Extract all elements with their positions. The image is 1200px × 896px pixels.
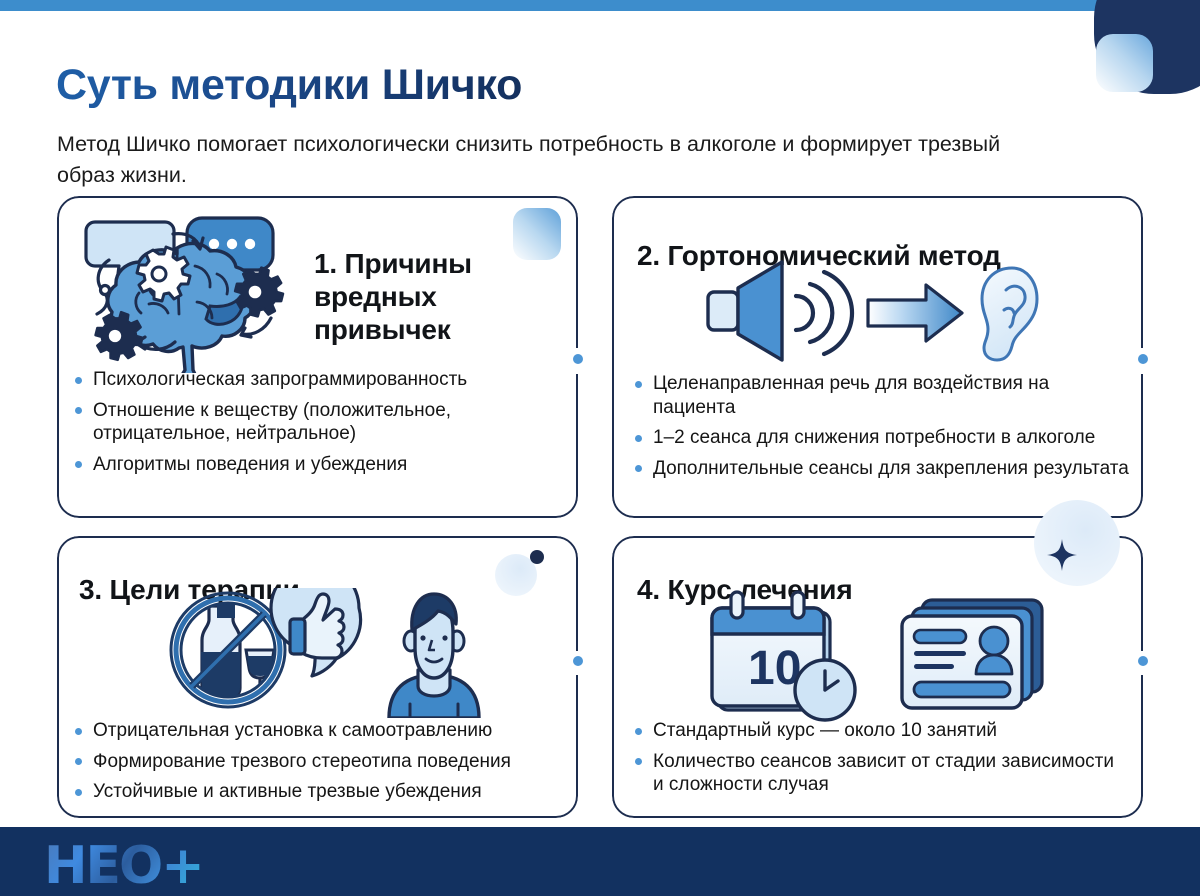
sparkle-icon [1047,539,1077,571]
calendar-clock-cards-icon: 10 [704,586,1054,726]
page-subtitle: Метод Шичко помогает психологически сниз… [57,129,1057,191]
ear-icon [982,268,1037,360]
brand-logo: НЕО+ [44,836,203,896]
list-item: 1–2 сеанса для снижения потребности в ал… [634,426,1129,450]
footer-bar: НЕО+ [0,827,1200,896]
list-item: Алгоритмы поведения и убеждения [74,453,564,477]
list-item: Психологическая запрограммированность [74,368,564,392]
list-item: Дополнительные сеансы для закрепления ре… [634,457,1129,481]
card-bullet-list: Отрицательная установка к самоотравлению… [74,719,569,811]
brain-gears-icon [77,208,292,373]
top-accent-bar [0,0,1200,11]
list-item: Целенаправленная речь для воздействия на… [634,372,1129,419]
card-edge-dot [1138,656,1148,666]
arrow-right-icon [868,285,962,341]
card-bullet-list: Психологическая запрограммированность От… [74,368,564,483]
card-prichiny-vrednyh-privychek[interactable]: 1. Причины вредных привычек Психологичес… [57,196,578,518]
card-title: 1. Причины вредных привычек [314,247,564,346]
card-kurs-lecheniya[interactable]: 4. Курс лечения 10 [612,536,1143,818]
list-item: Стандартный курс — около 10 занятий [634,719,1129,743]
card-deco-dot [530,550,544,564]
card-edge-dot [573,656,583,666]
card-edge-dot [573,354,583,364]
no-alcohol-thumbsup-person-icon [167,588,512,718]
person-icon [389,594,479,718]
corner-light-square [1096,34,1153,92]
page-title: Суть методики Шичко [56,61,522,110]
list-item: Устойчивые и активные трезвые убеждения [74,780,569,804]
card-gortonomicheskiy-metod[interactable]: 2. Гортономический метод [612,196,1143,518]
list-item: Количество сеансов зависит от стадии зав… [634,750,1129,797]
list-item: Отношение к веществу (положительное, отр… [74,399,564,446]
calendar-day-number: 10 [748,642,801,695]
card-bullet-list: Целенаправленная речь для воздействия на… [634,372,1129,487]
card-bullet-list: Стандартный курс — около 10 занятий Коли… [634,719,1129,804]
speaker-arrow-ear-icon [700,258,1050,368]
card-edge-dot [1138,354,1148,364]
list-item: Отрицательная установка к самоотравлению [74,719,569,743]
card-tseli-terapii[interactable]: 3. Цели терапии [57,536,578,818]
list-item: Формирование трезвого стереотипа поведен… [74,750,569,774]
